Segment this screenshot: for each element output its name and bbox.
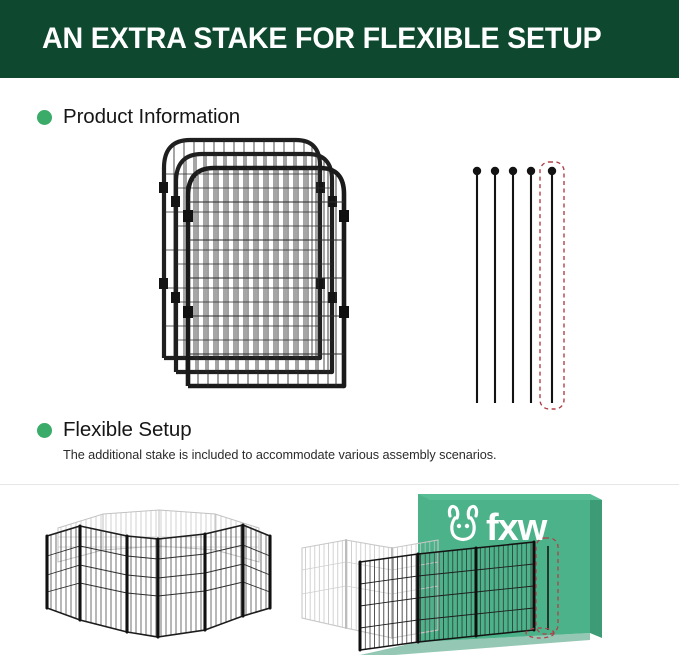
fence-panels-svg	[150, 130, 400, 405]
stakes-svg	[455, 160, 575, 410]
playpen-panel	[158, 534, 205, 637]
stake-head	[527, 167, 535, 175]
wall-top-edge	[418, 494, 602, 500]
fence-panel-back	[159, 140, 325, 358]
playpen-panel	[127, 536, 158, 637]
panel-connector-clip	[183, 210, 193, 222]
octagonal-playpen-illustration	[25, 492, 315, 652]
panel-connector-clip	[159, 278, 168, 289]
stake-4	[527, 167, 535, 403]
playpen-front-panels	[47, 525, 270, 637]
section-heading-flexible-setup: Flexible Setup	[37, 418, 192, 442]
wall-side-face	[590, 494, 602, 638]
panel-connector-clip	[183, 306, 193, 318]
panel-connector-clip	[339, 306, 349, 318]
playpen-panel	[80, 526, 127, 632]
playpen-panel	[205, 525, 243, 630]
brand-wordmark: fxw	[486, 507, 548, 549]
stake-head	[509, 167, 517, 175]
header-banner: AN EXTRA STAKE FOR FLEXIBLE SETUP	[0, 0, 679, 78]
dog-eye	[465, 524, 469, 528]
stake-5-extra	[548, 167, 556, 403]
section-divider	[0, 484, 679, 485]
section-subtitle-flexible-setup: The additional stake is included to acco…	[63, 448, 497, 462]
playpen-svg	[25, 492, 315, 652]
fence-against-wall-scene-illustration: fxw	[300, 490, 679, 655]
ground-stakes-illustration	[455, 160, 575, 410]
section-title-flexible-setup: Flexible Setup	[63, 418, 192, 442]
section-title-product-information: Product Information	[63, 105, 240, 129]
stake-head	[491, 167, 499, 175]
playpen-panel	[243, 525, 270, 616]
dog-eye	[457, 524, 461, 528]
playpen-panel	[47, 526, 80, 620]
scene-svg: fxw	[300, 490, 679, 655]
stake-head	[548, 167, 556, 175]
infographic-page: AN EXTRA STAKE FOR FLEXIBLE SETUP Produc…	[0, 0, 679, 655]
section-heading-product-information: Product Information	[37, 105, 240, 129]
stacked-fence-panels-illustration	[150, 130, 400, 405]
stake-2	[491, 167, 499, 403]
panel-connector-clip	[159, 182, 168, 193]
stake-1	[473, 167, 481, 403]
bullet-dot-icon	[37, 423, 52, 438]
bullet-dot-icon	[37, 110, 52, 125]
stake-3	[509, 167, 517, 403]
panel-connector-clip	[171, 292, 180, 303]
stake-head	[473, 167, 481, 175]
page-title: AN EXTRA STAKE FOR FLEXIBLE SETUP	[42, 22, 602, 56]
panel-connector-clip	[339, 210, 349, 222]
panel-connector-clip	[171, 196, 180, 207]
